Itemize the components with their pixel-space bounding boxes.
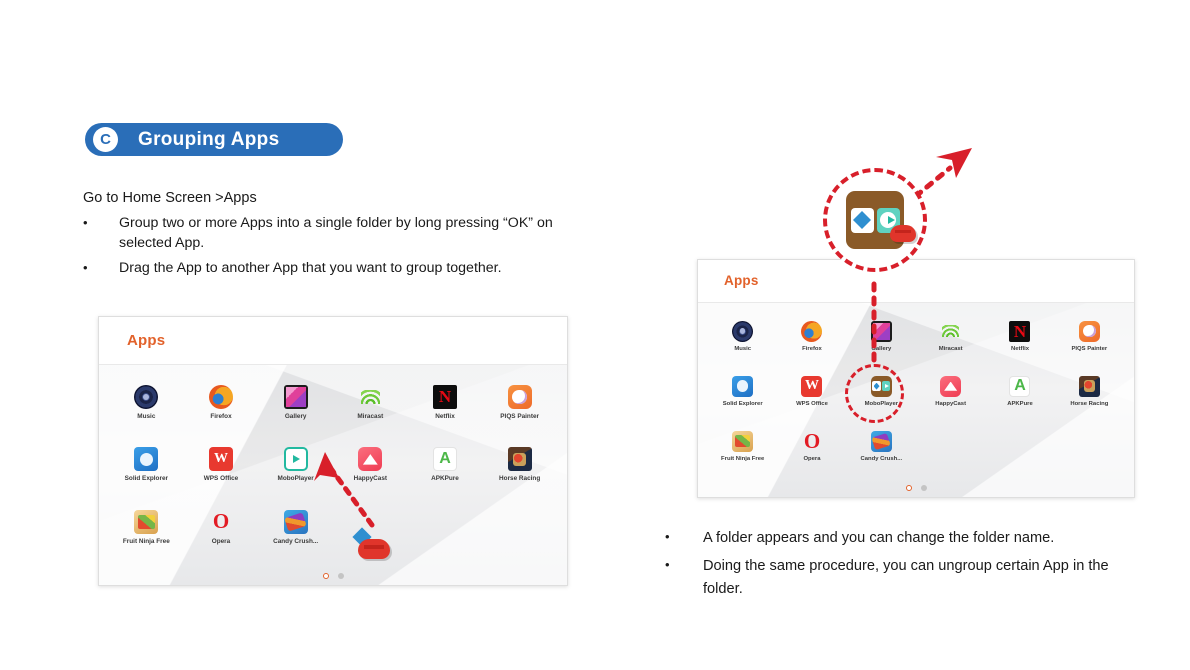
right-instruction-list: • A folder appears and you can change th…: [665, 527, 1135, 606]
app-tile[interactable]: OOpera: [777, 419, 846, 474]
app-label: Gallery: [285, 413, 307, 420]
wps-office-icon: W: [801, 376, 822, 397]
app-label: Miracast: [357, 413, 383, 420]
apps-titlebar: Apps: [99, 317, 567, 365]
app-label: HappyCast: [354, 475, 387, 482]
page-dot[interactable]: [338, 573, 344, 579]
app-tile[interactable]: MoboPlayer: [258, 434, 333, 496]
section-header-pill: C Grouping Apps: [85, 123, 343, 156]
app-tile[interactable]: Horse Racing: [1055, 364, 1124, 419]
horse-racing-icon: [1079, 376, 1100, 397]
piqs-painter-icon: [1079, 321, 1100, 342]
app-tile[interactable]: Gallery: [847, 309, 916, 364]
app-label: Music: [137, 413, 155, 420]
apps-title: Apps: [724, 273, 759, 288]
fruit-ninja-icon: [134, 510, 158, 534]
lead-instruction: Go to Home Screen >Apps: [83, 190, 257, 206]
app-tile[interactable]: Horse Racing: [482, 434, 557, 496]
app-label: WPS Office: [796, 401, 828, 407]
apps-body: MusicFirefoxGalleryMiracastNNetflixPIQS …: [698, 303, 1134, 497]
app-label: Music: [734, 346, 751, 352]
app-tile[interactable]: HappyCast: [916, 364, 985, 419]
app-label: Solid Explorer: [723, 401, 763, 407]
happycast-icon: [358, 447, 382, 471]
app-tile[interactable]: Fruit Ninja Free: [708, 419, 777, 474]
app-tile[interactable]: PIQS Painter: [1055, 309, 1124, 364]
app-label: Netflix: [435, 413, 455, 420]
app-tile[interactable]: Solid Explorer: [708, 364, 777, 419]
app-label: Opera: [803, 456, 820, 462]
section-badge: C: [93, 127, 118, 152]
app-label: PIQS Painter: [500, 413, 539, 420]
callout-arrow-dashes: [916, 168, 950, 196]
apps-grid: MusicFirefoxGalleryMiracastNNetflixPIQS …: [698, 303, 1134, 474]
app-label: Candy Crush...: [273, 538, 318, 545]
app-label: Netflix: [1011, 346, 1029, 352]
happycast-icon: [940, 376, 961, 397]
app-tile[interactable]: Music: [109, 371, 184, 433]
list-item: • Group two or more Apps into a single f…: [83, 213, 563, 253]
app-tile[interactable]: Candy Crush...: [258, 496, 333, 558]
app-tile[interactable]: Fruit Ninja Free: [109, 496, 184, 558]
music-icon: [732, 321, 753, 342]
page-dot[interactable]: [921, 485, 927, 491]
app-tile[interactable]: AAPKPure: [408, 434, 483, 496]
app-label: APKPure: [1007, 401, 1033, 407]
candy-crush-icon: [284, 510, 308, 534]
app-label: Fruit Ninja Free: [123, 538, 170, 545]
apkpure-icon: A: [433, 447, 457, 471]
app-tile[interactable]: Firefox: [184, 371, 259, 433]
app-tile[interactable]: Gallery: [258, 371, 333, 433]
app-tile[interactable]: AAPKPure: [985, 364, 1054, 419]
app-label: WPS Office: [204, 475, 238, 482]
firefox-icon: [209, 385, 233, 409]
app-label: PIQS Painter: [1071, 346, 1107, 352]
app-tile[interactable]: OOpera: [184, 496, 259, 558]
opera-icon: O: [209, 510, 233, 534]
app-label: Fruit Ninja Free: [721, 456, 764, 462]
app-tile[interactable]: MoboPlayer: [847, 364, 916, 419]
app-tile[interactable]: Miracast: [333, 371, 408, 433]
bullet-marker: •: [83, 258, 119, 278]
apps-titlebar: Apps: [698, 260, 1134, 303]
app-tile[interactable]: WWPS Office: [184, 434, 259, 496]
kodi-icon: [872, 381, 881, 391]
app-label: APKPure: [431, 475, 459, 482]
gallery-icon: [871, 321, 892, 342]
bullet-marker: •: [83, 213, 119, 253]
bullet-marker: •: [665, 527, 703, 550]
music-icon: [134, 385, 158, 409]
page-indicator[interactable]: [99, 573, 567, 579]
app-label: HappyCast: [935, 401, 966, 407]
folder-callout-bubble: [823, 168, 927, 272]
section-title: Grouping Apps: [138, 129, 279, 151]
wps-office-icon: W: [209, 447, 233, 471]
app-label: MoboPlayer: [865, 401, 898, 407]
app-tile[interactable]: PIQS Painter: [482, 371, 557, 433]
app-label: Horse Racing: [1070, 401, 1108, 407]
bullet-text: Doing the same procedure, you can ungrou…: [703, 555, 1135, 601]
apkpure-icon: A: [1009, 376, 1030, 397]
left-instruction-list: • Group two or more Apps into a single f…: [83, 213, 563, 283]
solid-explorer-icon: [732, 376, 753, 397]
apps-screen-after: Apps MusicFirefoxGalleryMiracastNNetflix…: [697, 259, 1135, 498]
apps-body: MusicFirefoxGalleryMiracastNNetflixPIQS …: [99, 365, 567, 585]
apps-grid: MusicFirefoxGalleryMiracastNNetflixPIQS …: [99, 365, 567, 558]
app-label: Firefox: [210, 413, 231, 420]
opera-icon: O: [801, 431, 822, 452]
solid-explorer-icon: [134, 447, 158, 471]
list-item: • A folder appears and you can change th…: [665, 527, 1135, 550]
candy-crush-icon: [871, 431, 892, 452]
callout-arrowhead: [936, 148, 972, 178]
bullet-text: Group two or more Apps into a single fol…: [119, 213, 563, 253]
moboplayer-icon: [284, 447, 308, 471]
app-tile[interactable]: Miracast: [916, 309, 985, 364]
fruit-ninja-icon: [732, 431, 753, 452]
kodi-icon: [851, 208, 874, 233]
bullet-marker: •: [665, 555, 703, 601]
app-tile[interactable]: WWPS Office: [777, 364, 846, 419]
app-label: Solid Explorer: [125, 475, 168, 482]
app-label: Opera: [212, 538, 230, 545]
app-label: MoboPlayer: [278, 475, 314, 482]
miracast-icon: [358, 385, 382, 409]
app-label: Candy Crush...: [861, 456, 903, 462]
netflix-icon: N: [1009, 321, 1030, 342]
bullet-text: Drag the App to another App that you wan…: [119, 258, 502, 278]
app-tile[interactable]: NNetflix: [985, 309, 1054, 364]
app-label: Gallery: [871, 346, 891, 352]
page-indicator[interactable]: [698, 485, 1134, 491]
moboplayer-icon: [882, 381, 891, 391]
folder-icon: [846, 191, 904, 249]
folder-icon: [871, 376, 892, 397]
hand-cursor-icon: [890, 225, 916, 242]
app-label: Horse Racing: [499, 475, 540, 482]
miracast-icon: [940, 321, 961, 342]
page-dot-active[interactable]: [906, 485, 912, 491]
app-tile[interactable]: NNetflix: [408, 371, 483, 433]
apps-screen-before: Apps MusicFirefoxGalleryMiracastNNetflix…: [98, 316, 568, 586]
app-tile[interactable]: HappyCast: [333, 434, 408, 496]
apps-title: Apps: [127, 332, 165, 349]
list-item: • Doing the same procedure, you can ungr…: [665, 555, 1135, 601]
app-tile[interactable]: Music: [708, 309, 777, 364]
gallery-icon: [284, 385, 308, 409]
app-tile[interactable]: Firefox: [777, 309, 846, 364]
app-label: Miracast: [939, 346, 963, 352]
horse-racing-icon: [508, 447, 532, 471]
netflix-icon: N: [433, 385, 457, 409]
page-dot-active[interactable]: [323, 573, 329, 579]
app-tile[interactable]: Solid Explorer: [109, 434, 184, 496]
piqs-painter-icon: [508, 385, 532, 409]
app-label: Firefox: [802, 346, 822, 352]
app-tile[interactable]: Candy Crush...: [847, 419, 916, 474]
bullet-text: A folder appears and you can change the …: [703, 527, 1054, 550]
play-triangle-icon: [888, 216, 895, 224]
list-item: • Drag the App to another App that you w…: [83, 258, 563, 278]
firefox-icon: [801, 321, 822, 342]
